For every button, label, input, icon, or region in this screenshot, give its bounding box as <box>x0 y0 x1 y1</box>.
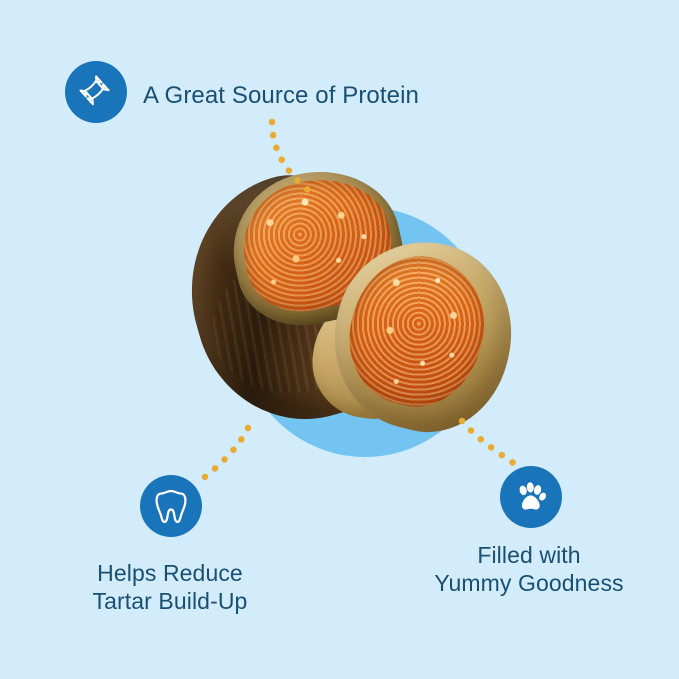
badge-tartar[interactable] <box>140 475 202 537</box>
tooth-icon <box>154 487 188 525</box>
product-image <box>185 170 505 460</box>
paw-icon <box>513 479 549 515</box>
badge-yummy[interactable] <box>500 466 562 528</box>
feature-label-yummy-line-2: Yummy Goodness <box>396 569 662 597</box>
feature-label-tartar-line-2: Tartar Build-Up <box>0 587 340 615</box>
feature-label-tartar-line-1: Helps Reduce <box>0 559 340 587</box>
badge-protein[interactable] <box>65 61 127 123</box>
feature-label-yummy-line-1: Filled with <box>396 541 662 569</box>
feature-label-protein: A Great Source of Protein <box>143 81 419 111</box>
product-feature-infographic: A Great Source of Protein Helps Reduce T… <box>0 0 679 679</box>
dna-icon <box>78 74 114 110</box>
feature-label-protein-line-1: A Great Source of Protein <box>143 81 419 111</box>
feature-label-tartar: Helps Reduce Tartar Build-Up <box>0 559 340 615</box>
feature-label-yummy: Filled with Yummy Goodness <box>396 541 662 597</box>
